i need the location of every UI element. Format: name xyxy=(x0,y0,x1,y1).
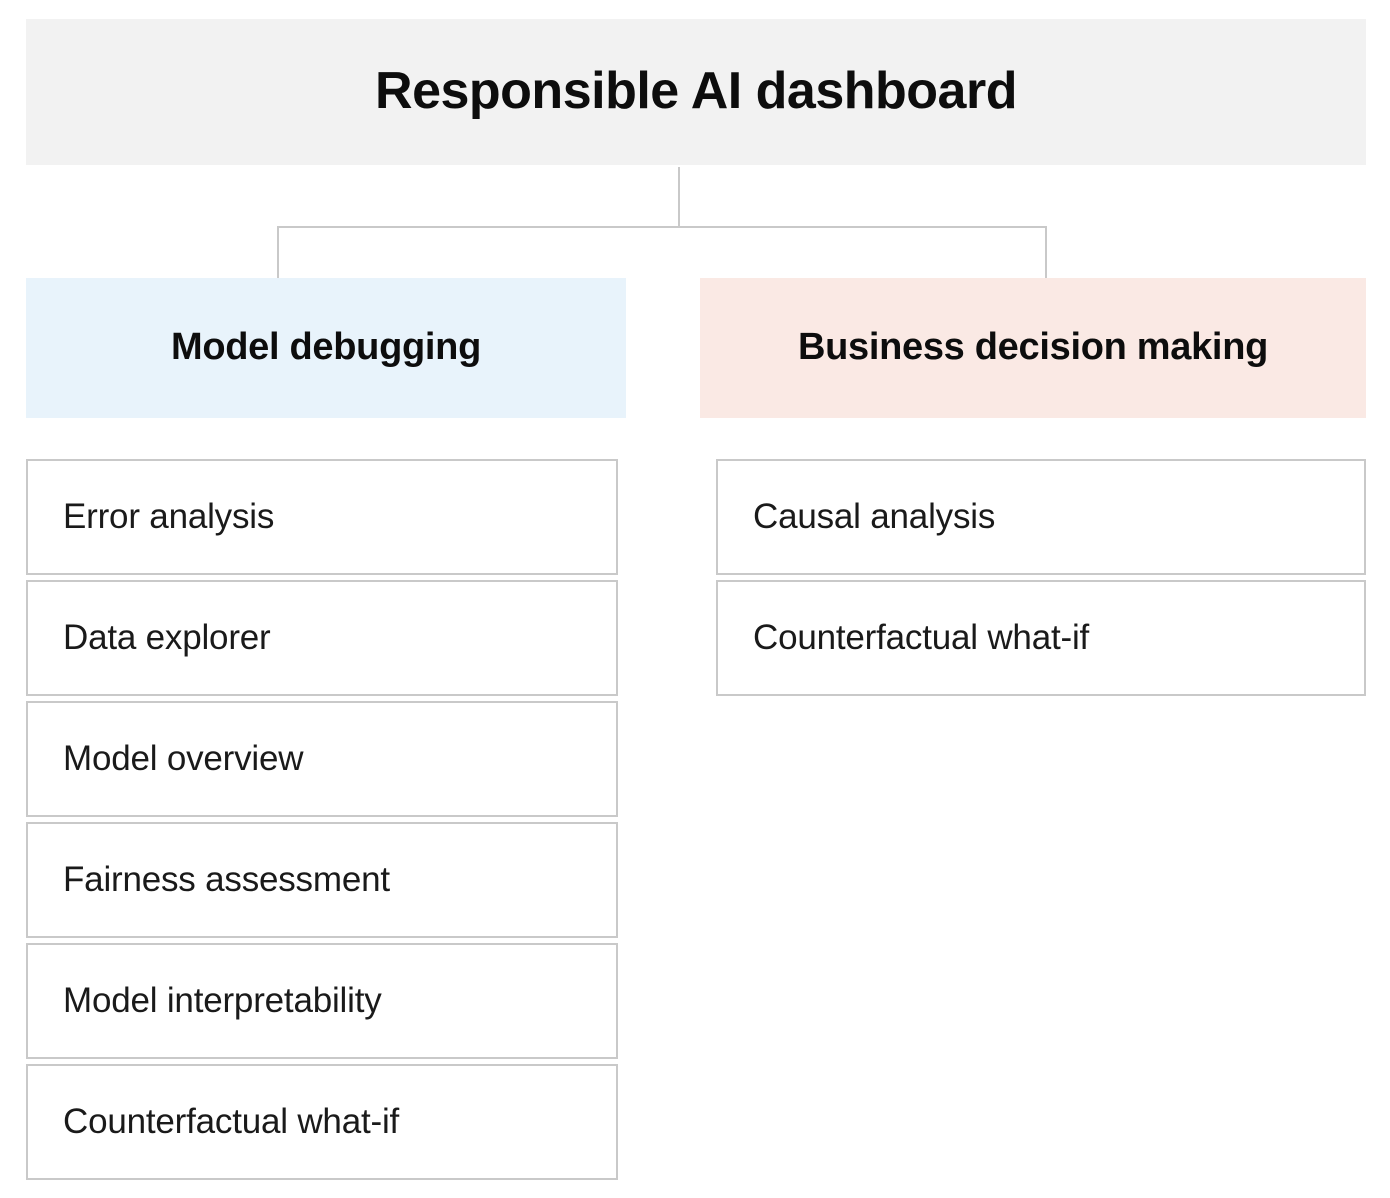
branch-model-debugging: Model debugging Error analysis Data expl… xyxy=(26,278,626,418)
list-item-label: Model overview xyxy=(63,738,303,780)
branch-header-model-debugging: Model debugging xyxy=(26,278,626,418)
list-item-label: Fairness assessment xyxy=(63,859,390,901)
list-item[interactable]: Counterfactual what-if xyxy=(716,580,1366,696)
branch-title-model-debugging: Model debugging xyxy=(171,326,481,370)
connector-drop-right-branch xyxy=(1045,226,1047,279)
branch-business-decision-making: Business decision making Causal analysis… xyxy=(700,278,1366,418)
branch-header-business-decision-making: Business decision making xyxy=(700,278,1366,418)
list-item-label: Model interpretability xyxy=(63,980,382,1022)
branch-title-business-decision-making: Business decision making xyxy=(798,326,1268,370)
list-item[interactable]: Fairness assessment xyxy=(26,822,618,938)
root-node-responsible-ai-dashboard: Responsible AI dashboard xyxy=(26,19,1366,165)
list-item-label: Counterfactual what-if xyxy=(63,1101,399,1143)
list-item[interactable]: Data explorer xyxy=(26,580,618,696)
diagram-canvas: Responsible AI dashboard Model debugging… xyxy=(0,0,1390,1198)
item-list-model-debugging: Error analysis Data explorer Model overv… xyxy=(26,459,618,1185)
item-list-business-decision-making: Causal analysis Counterfactual what-if xyxy=(716,459,1366,701)
list-item[interactable]: Model interpretability xyxy=(26,943,618,1059)
connector-horizontal-bar xyxy=(277,226,1047,228)
list-item-label: Data explorer xyxy=(63,617,271,659)
list-item[interactable]: Causal analysis xyxy=(716,459,1366,575)
list-item[interactable]: Error analysis xyxy=(26,459,618,575)
list-item-label: Counterfactual what-if xyxy=(753,617,1089,659)
connector-stem-vertical xyxy=(678,167,680,227)
list-item-label: Error analysis xyxy=(63,496,274,538)
connector-drop-left-branch xyxy=(277,226,279,279)
list-item[interactable]: Model overview xyxy=(26,701,618,817)
list-item-label: Causal analysis xyxy=(753,496,995,538)
page-title: Responsible AI dashboard xyxy=(375,63,1017,120)
list-item[interactable]: Counterfactual what-if xyxy=(26,1064,618,1180)
